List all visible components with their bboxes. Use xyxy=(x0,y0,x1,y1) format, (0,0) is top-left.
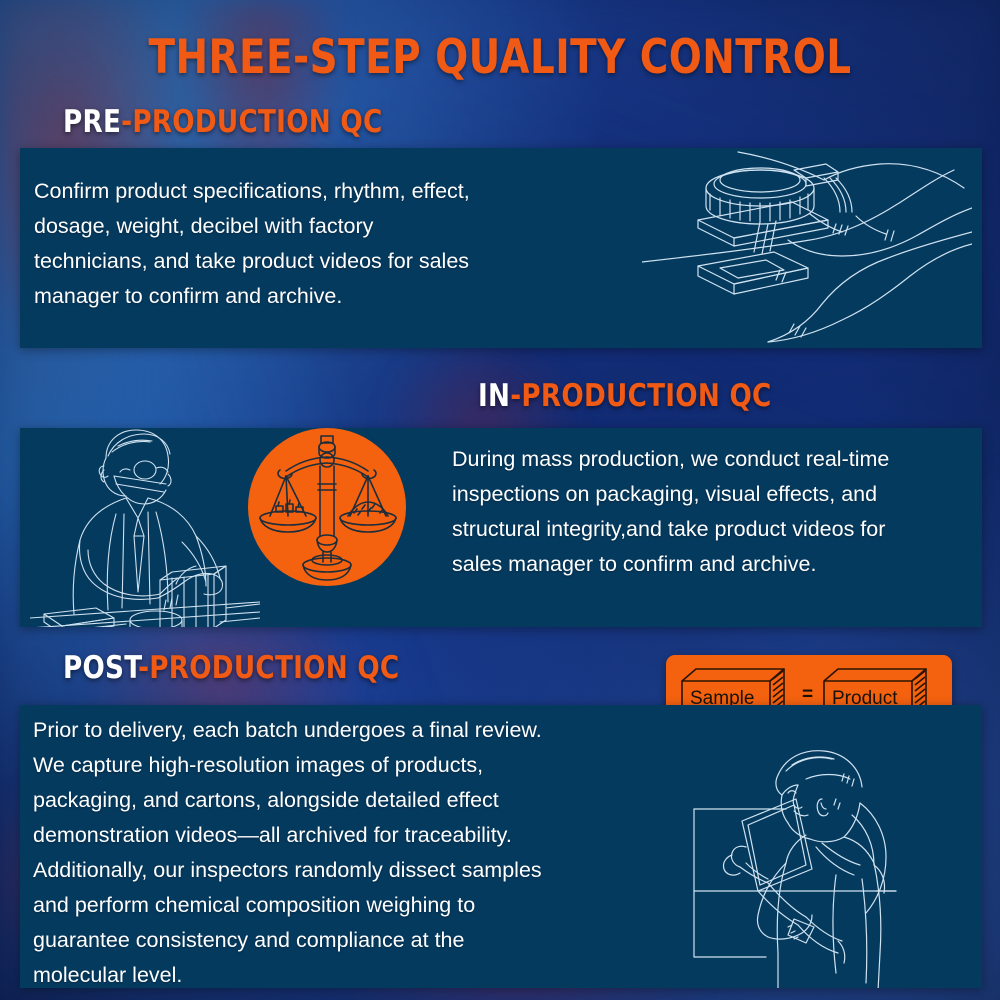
section-heading-in-production: IN-PRODUCTION QC xyxy=(478,378,772,414)
section-heading-in-production-orange: -PRODUCTION QC xyxy=(510,378,771,414)
man-with-tablet-icon xyxy=(646,743,976,988)
section-heading-pre-production-white: PRE xyxy=(63,104,121,140)
section-heading-pre-production: PRE-PRODUCTION QC xyxy=(63,104,382,140)
section-heading-post-production-white: POST xyxy=(63,650,138,686)
panel-post-production: Prior to delivery, each batch undergoes … xyxy=(20,705,982,988)
poster-title: THREE-STEP QUALITY CONTROL xyxy=(40,30,960,85)
panel-in-production-body: During mass production, we conduct real-… xyxy=(452,442,982,582)
hand-holding-product-icon xyxy=(642,148,972,344)
panel-in-production: During mass production, we conduct real-… xyxy=(20,428,982,627)
section-heading-in-production-white: IN xyxy=(478,378,510,414)
section-heading-post-production-orange: -PRODUCTION QC xyxy=(138,650,399,686)
poster-canvas: THREE-STEP QUALITY CONTROL PRE-PRODUCTIO… xyxy=(0,0,1000,1000)
section-heading-post-production: POST-PRODUCTION QC xyxy=(63,650,399,686)
equals-sign-label: = xyxy=(802,684,813,706)
panel-pre-production-body: Confirm product specifications, rhythm, … xyxy=(34,174,634,314)
worker-inspecting-products-icon xyxy=(30,428,260,627)
panel-pre-production: Confirm product specifications, rhythm, … xyxy=(20,148,982,348)
balance-scale-badge xyxy=(248,428,406,586)
section-heading-pre-production-orange: -PRODUCTION QC xyxy=(121,104,382,140)
panel-post-production-body: Prior to delivery, each batch undergoes … xyxy=(33,713,673,988)
